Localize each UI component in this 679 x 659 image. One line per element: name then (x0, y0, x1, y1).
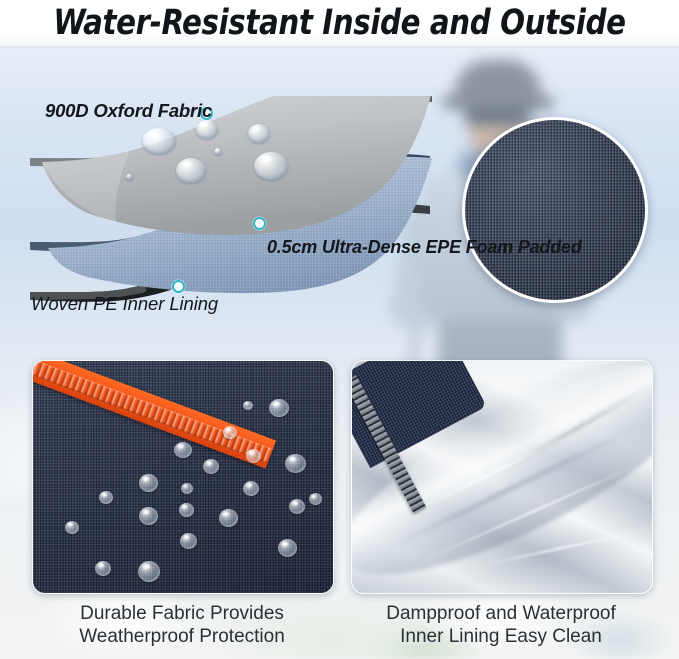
water-bead (269, 399, 289, 417)
caption-durable-fabric-line1: Durable Fabric Provides (32, 602, 332, 625)
water-bead (285, 454, 306, 473)
caption-inner-lining-line1: Dampproof and Waterproof (351, 602, 651, 625)
water-bead (139, 474, 158, 492)
water-bead (180, 533, 197, 549)
header-band: Water-Resistant Inside and Outside (0, 0, 679, 48)
water-bead (223, 426, 237, 439)
label-oxford-fabric: 900D Oxford Fabric (45, 100, 212, 122)
water-bead (243, 481, 259, 496)
label-epe-foam-line1: 0.5cm Ultra-Dense (267, 237, 421, 257)
water-bead (289, 499, 305, 514)
label-epe-foam-line2: EPE Foam Padded (425, 237, 581, 257)
page-title: Water-Resistant Inside and Outside (24, 1, 655, 45)
photo-card-durable-fabric (32, 360, 334, 594)
caption-inner-lining: Dampproof and Waterproof Inner Lining Ea… (351, 602, 651, 648)
water-bead (174, 442, 192, 458)
water-bead (278, 539, 297, 557)
oxford-fabric-closeup-circle (462, 117, 648, 303)
layer-marker-epe-foam (253, 217, 266, 230)
caption-durable-fabric: Durable Fabric Provides Weatherproof Pro… (32, 602, 332, 648)
water-bead (181, 483, 193, 494)
water-bead (203, 459, 219, 474)
skier-hat (455, 60, 541, 104)
label-epe-foam: 0.5cm Ultra-Dense EPE Foam Padded (267, 237, 582, 258)
water-bead (138, 561, 160, 582)
material-layer-diagram (18, 96, 448, 321)
water-bead (139, 507, 158, 525)
water-bead (65, 521, 79, 534)
water-bead (243, 401, 253, 410)
photo-card-inner-lining (351, 360, 653, 594)
caption-inner-lining-line2: Inner Lining Easy Clean (351, 625, 651, 648)
caption-durable-fabric-line2: Weatherproof Protection (32, 625, 332, 648)
water-bead (179, 503, 194, 517)
layer-marker-pe-lining (172, 280, 185, 293)
water-bead (99, 491, 113, 504)
water-bead (309, 493, 322, 505)
infographic-panel: Water-Resistant Inside and Outside (0, 0, 679, 659)
water-bead (95, 561, 111, 576)
header-divider (0, 46, 679, 48)
label-pe-inner-lining: Woven PE Inner Lining (31, 293, 218, 315)
water-bead (219, 509, 238, 527)
water-bead (246, 449, 261, 463)
layer-diagram-svg (18, 96, 448, 321)
